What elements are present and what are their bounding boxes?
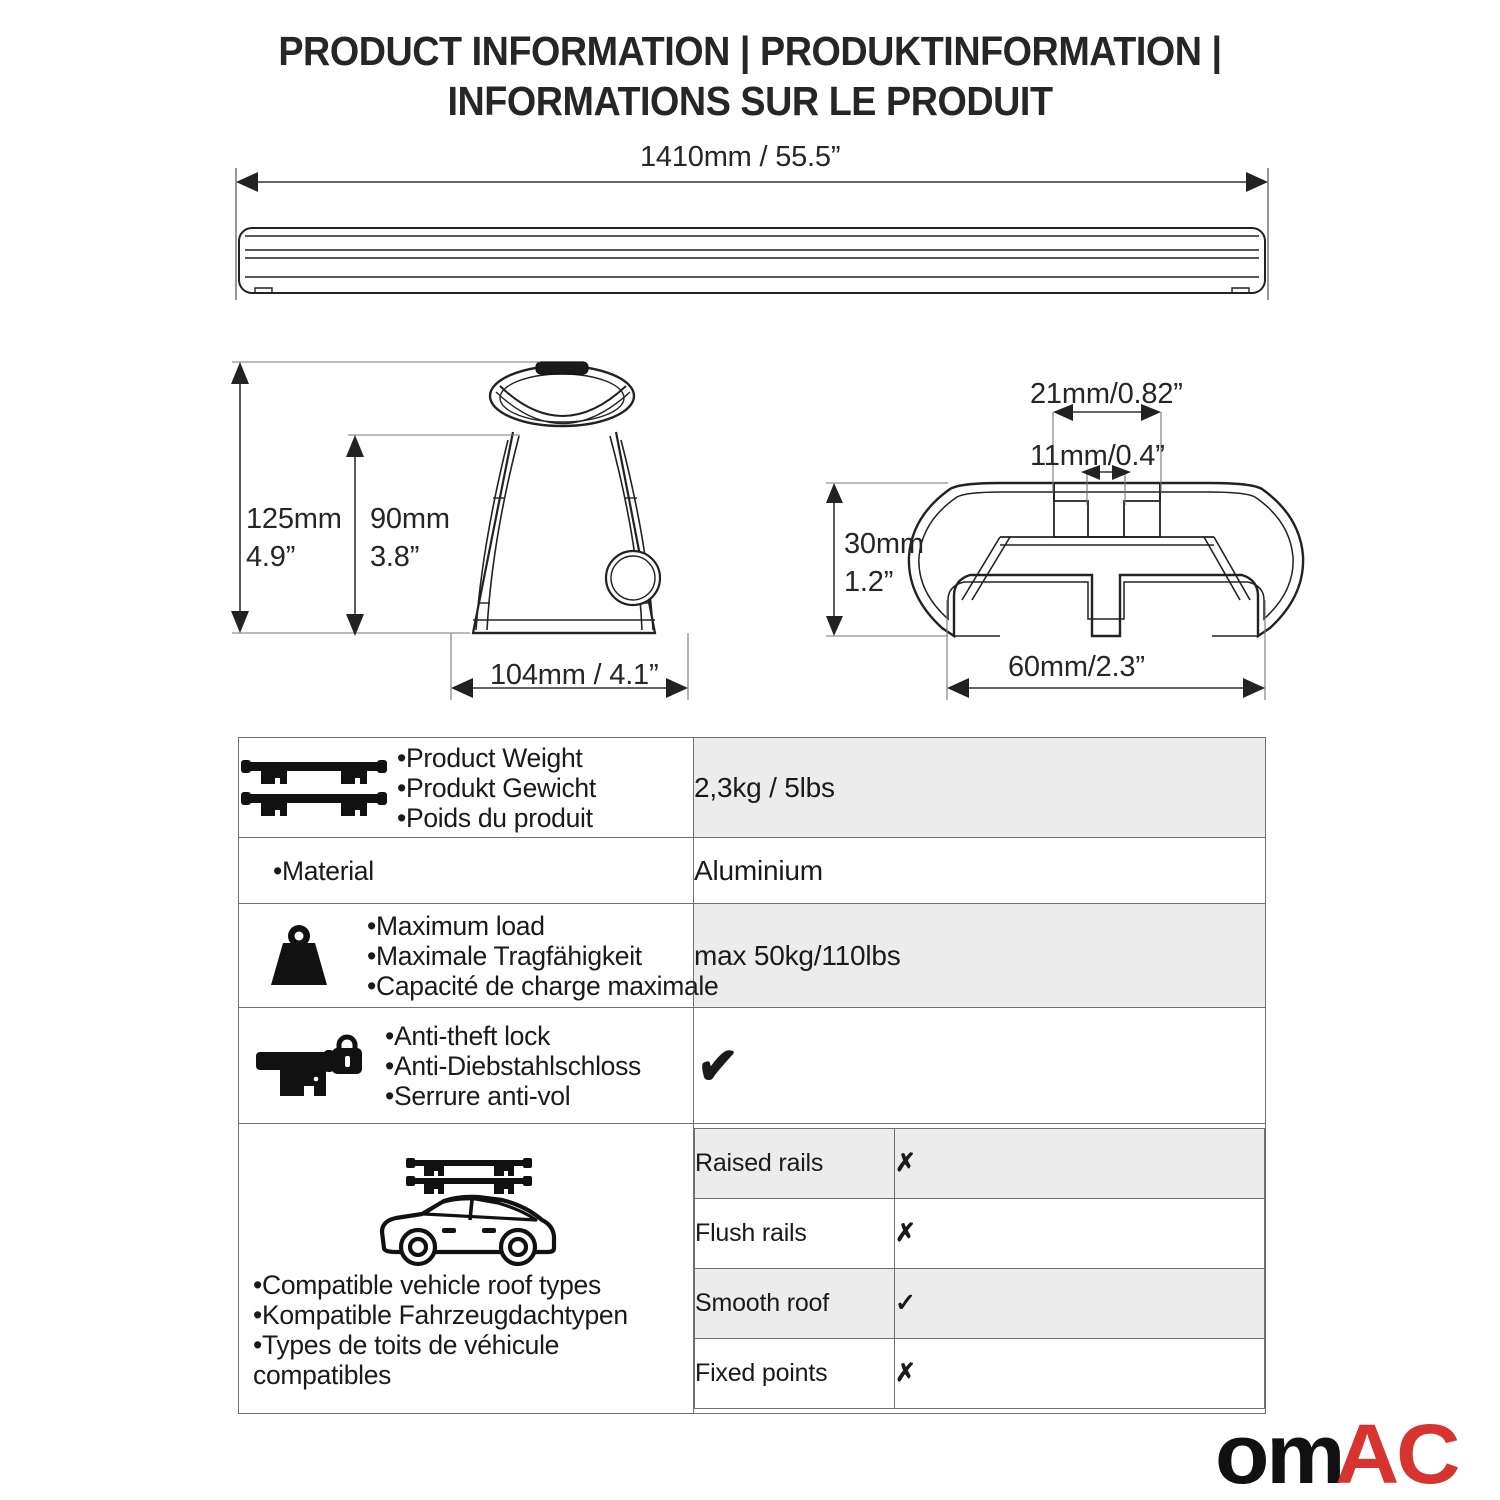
logo-red-text: AC: [1335, 1418, 1457, 1490]
spec-label-cell: •Maximum load •Maximale Tragfähigkeit •C…: [239, 904, 694, 1008]
slot-outer-width-label: 21mm/0.82”: [1030, 375, 1183, 413]
spec-label-text: •Product Weight •Produkt Gewicht •Poids …: [397, 743, 596, 833]
compatibility-label-cell: •Compatible vehicle roof types •Kompatib…: [239, 1124, 694, 1414]
foot-total-height-label: 125mm 4.9”: [246, 500, 342, 576]
anti-theft-check-mark: ✔: [695, 1035, 739, 1096]
product-weight-value: 2,3kg / 5lbs: [694, 772, 835, 803]
roof-type-matrix-cell: Raised rails ✗ Flush rails ✗ Smooth roof…: [694, 1124, 1266, 1414]
roof-type-name: Fixed points: [695, 1339, 895, 1409]
spec-label-text: •Anti-theft lock •Anti-Diebstahlschloss …: [385, 1021, 641, 1111]
table-row: •Material Aluminium: [239, 838, 1266, 904]
roof-type-row: Flush rails ✗: [695, 1199, 1265, 1269]
slot-inner-width-label: 11mm/0.4”: [1030, 437, 1165, 475]
profile-height-label: 30mm 1.2”: [844, 525, 924, 601]
product-spec-table: •Product Weight •Produkt Gewicht •Poids …: [238, 737, 1266, 1414]
roof-type-support: ✓: [895, 1269, 1265, 1339]
spec-label-cell: •Product Weight •Produkt Gewicht •Poids …: [239, 738, 694, 838]
table-row-compatibility: •Compatible vehicle roof types •Kompatib…: [239, 1124, 1266, 1414]
spec-value-cell: 2,3kg / 5lbs: [694, 738, 1266, 838]
foot-width-label: 104mm / 4.1”: [490, 656, 658, 694]
spec-value-cell: Aluminium: [694, 838, 1266, 904]
compatibility-label-text: •Compatible vehicle roof types •Kompatib…: [239, 1270, 693, 1390]
foot-inner-height-label: 90mm 3.8”: [370, 500, 450, 576]
car-with-rack-icon: [366, 1148, 566, 1268]
roof-type-name: Raised rails: [695, 1129, 895, 1199]
table-row: •Anti-theft lock •Anti-Diebstahlschloss …: [239, 1008, 1266, 1124]
profile-width-label: 60mm/2.3”: [1008, 648, 1145, 686]
roof-type-support: ✗: [895, 1129, 1265, 1199]
spec-label-text: •Maximum load •Maximale Tragfähigkeit •C…: [367, 911, 718, 1001]
table-row: •Product Weight •Produkt Gewicht •Poids …: [239, 738, 1266, 838]
spec-label-text: •Material: [273, 856, 374, 886]
table-row: •Maximum load •Maximale Tragfähigkeit •C…: [239, 904, 1266, 1008]
two-roof-bars-icon: [239, 756, 389, 820]
roof-bar-side-view: [239, 228, 1265, 293]
roof-type-support: ✗: [895, 1339, 1265, 1409]
roof-type-table: Raised rails ✗ Flush rails ✗ Smooth roof…: [694, 1128, 1265, 1409]
roof-type-row: Fixed points ✗: [695, 1339, 1265, 1409]
material-value: Aluminium: [694, 855, 823, 886]
spec-value-cell: ✔: [694, 1008, 1266, 1124]
roof-type-row: Raised rails ✗: [695, 1129, 1265, 1199]
spec-label-cell: •Material: [239, 838, 694, 904]
lock-icon: [239, 1030, 377, 1102]
logo-dark-text: om: [1215, 1418, 1342, 1490]
spec-value-cell: max 50kg/110lbs: [694, 904, 1266, 1008]
roof-type-support: ✗: [895, 1199, 1265, 1269]
omac-logo: omAC: [1215, 1418, 1500, 1490]
bar-length-label: 1410mm / 55.5”: [640, 138, 840, 176]
spec-label-cell: •Anti-theft lock •Anti-Diebstahlschloss …: [239, 1008, 694, 1124]
roof-type-row: Smooth roof ✓: [695, 1269, 1265, 1339]
roof-type-name: Smooth roof: [695, 1269, 895, 1339]
roof-type-name: Flush rails: [695, 1199, 895, 1269]
max-load-value: max 50kg/110lbs: [694, 940, 901, 971]
weight-icon: [239, 923, 359, 989]
